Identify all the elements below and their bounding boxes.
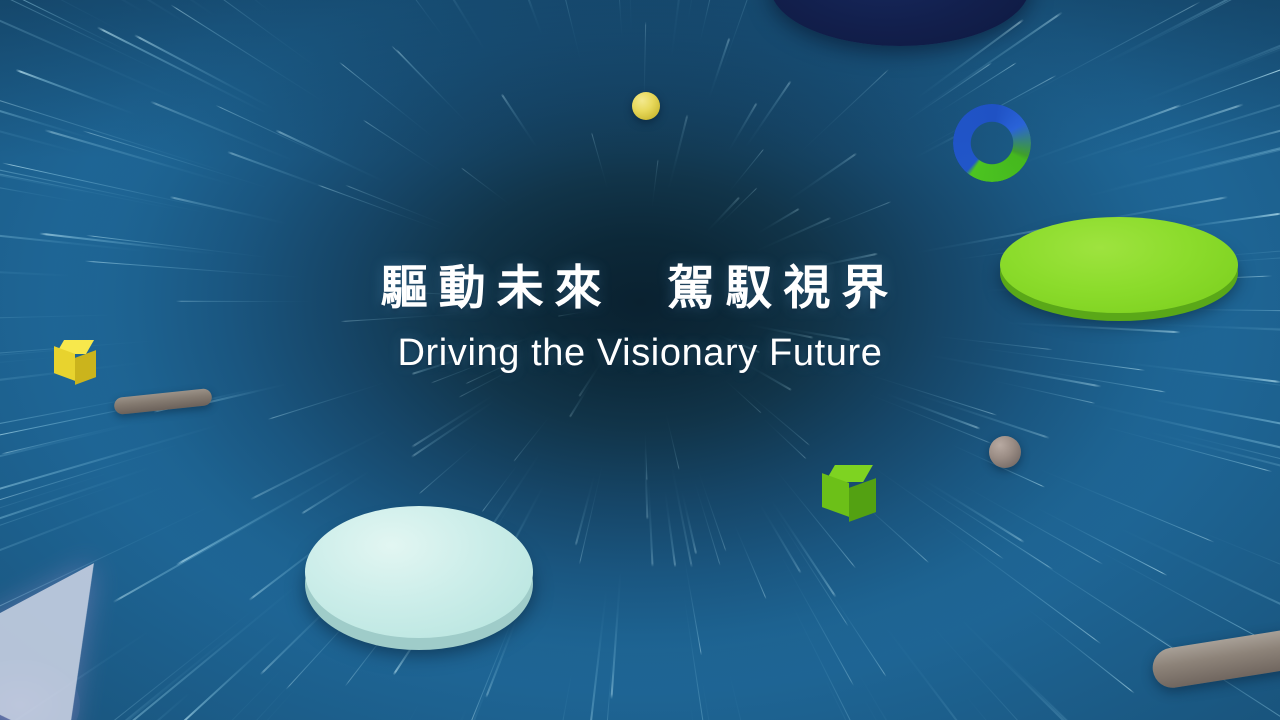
mint-disc-shape <box>305 506 533 638</box>
title-card-scene: 驅動未來 駕馭視界 Driving the Visionary Future <box>0 0 1280 720</box>
donut-ring-shape <box>953 104 1031 182</box>
gray-sphere-shape <box>989 436 1021 468</box>
green-cube-shape <box>822 465 878 523</box>
yellow-sphere-shape <box>632 92 660 120</box>
cube-face-right <box>849 478 876 522</box>
title-chinese: 驅動未來 駕馭視界 <box>0 262 1280 316</box>
title-block: 驅動未來 駕馭視界 Driving the Visionary Future <box>0 262 1280 375</box>
title-english: Driving the Visionary Future <box>0 332 1280 375</box>
